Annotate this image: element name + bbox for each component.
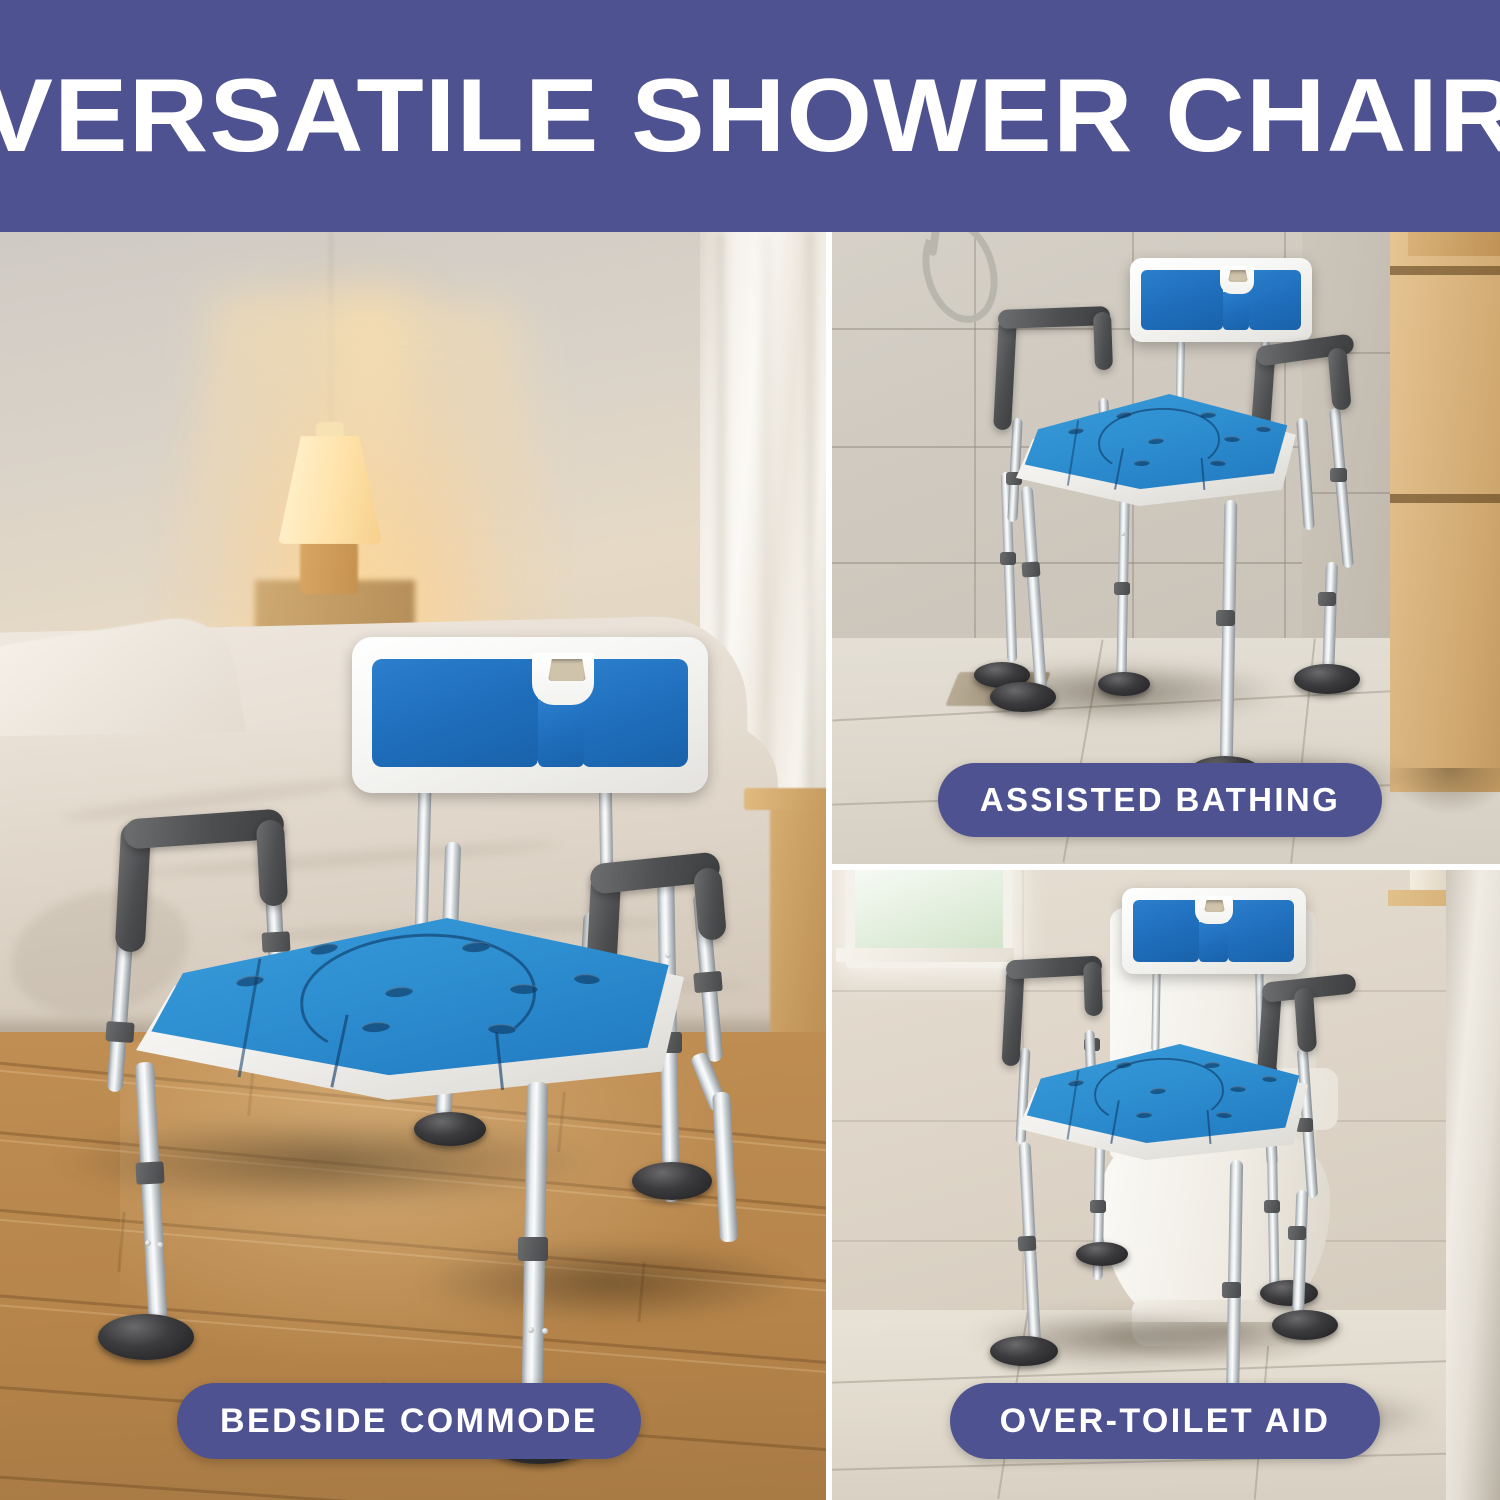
armrest-collar xyxy=(693,971,723,993)
backrest-pad-right xyxy=(1228,900,1294,962)
badge-bedside-commode[interactable]: BEDSIDE COMMODE xyxy=(177,1383,641,1459)
height-adjust-pin xyxy=(145,1240,151,1246)
chair-foot-rear-far xyxy=(1272,1310,1338,1340)
leg-collar xyxy=(1090,1200,1106,1213)
height-adjust-pin xyxy=(665,952,671,958)
backrest-pad-left xyxy=(1141,270,1223,330)
armrest-foam-left-rear xyxy=(256,819,288,906)
armrest-collar xyxy=(261,931,290,952)
seat-drain-slot xyxy=(1230,1086,1246,1092)
badge-label: BEDSIDE COMMODE xyxy=(220,1402,598,1441)
leg-collar xyxy=(1000,552,1016,565)
chair-foot-rear-left xyxy=(1076,1242,1128,1266)
backrest-carry-handle xyxy=(548,659,586,681)
backrest-post-left xyxy=(1151,966,1160,1052)
backrest-shell xyxy=(1122,888,1306,974)
chair-leg-front-left xyxy=(1021,486,1048,696)
height-adjust-pin xyxy=(1121,532,1125,536)
chair-foot-front-left xyxy=(98,1314,194,1360)
armrest-collar xyxy=(1330,468,1347,482)
page-title: VERSATILE SHOWER CHAIR xyxy=(0,64,1500,168)
height-adjust-pin xyxy=(157,1242,163,1248)
chair-leg-rear-right xyxy=(1322,562,1338,680)
chair-shadow xyxy=(420,1242,800,1322)
backrest-pad-left xyxy=(372,659,538,767)
chair-foot-rear-right xyxy=(1294,664,1360,694)
seat-drain-slot xyxy=(510,984,538,994)
height-adjust-pin xyxy=(528,1327,534,1333)
leg-collar xyxy=(1021,561,1040,577)
backrest-pad-right xyxy=(1249,270,1301,330)
armrest-tube-right-front xyxy=(1329,408,1354,568)
armrest-foam-right-rear xyxy=(693,867,727,941)
leg-collar xyxy=(1216,610,1235,626)
backrest-pad-center xyxy=(538,699,584,767)
backrest-pad-left xyxy=(1133,900,1199,962)
panel-assisted-bathing: ASSISTED BATHING xyxy=(832,232,1500,864)
leg-collar xyxy=(135,1161,164,1184)
seat-drain-slot xyxy=(1224,436,1240,442)
chair-foot-rear-right xyxy=(1260,1280,1318,1306)
leg-collar xyxy=(1288,1226,1306,1240)
armrest-tube-left-front xyxy=(106,932,133,1093)
backrest-pad-right xyxy=(582,659,688,767)
armrest-tube-right-rear xyxy=(1296,418,1315,530)
armrest-foam-left-rear xyxy=(1083,962,1103,1017)
armrest-collar xyxy=(105,1021,134,1043)
badge-assisted-bathing[interactable]: ASSISTED BATHING xyxy=(938,763,1382,837)
height-adjust-pin xyxy=(542,1328,548,1334)
chair-foot-rear-left xyxy=(414,1112,486,1146)
leg-collar xyxy=(1264,1200,1280,1213)
header-banner: VERSATILE SHOWER CHAIR xyxy=(0,0,1500,232)
panel-over-toilet-aid: OVER-TOILET AID xyxy=(832,870,1500,1500)
badge-label: ASSISTED BATHING xyxy=(980,781,1340,819)
backrest-pad-center xyxy=(1199,922,1228,962)
chair-foot-rear-left xyxy=(1098,672,1150,696)
armrest-foam-left-rear xyxy=(1093,312,1113,371)
backrest-pad-center xyxy=(1223,292,1249,330)
shower-chair-bedside xyxy=(0,232,826,1500)
chair-leg-front-right xyxy=(1220,500,1238,770)
leg-collar xyxy=(1318,592,1336,606)
badge-label: OVER-TOILET AID xyxy=(1000,1402,1331,1441)
backrest-carry-handle xyxy=(1204,900,1225,912)
backrest-shell xyxy=(352,637,708,793)
chair-leg-rear-far xyxy=(1292,1190,1309,1326)
backrest-shell xyxy=(1130,258,1312,342)
badge-over-toilet-aid[interactable]: OVER-TOILET AID xyxy=(950,1383,1380,1459)
leg-collar xyxy=(1222,1282,1241,1298)
armrest-foam-left-vertical xyxy=(993,318,1017,431)
chair-foot-front-left xyxy=(990,682,1056,712)
leg-collar xyxy=(518,1237,548,1261)
chair-leg-rear-far xyxy=(712,1092,738,1243)
armrest-foam-right-rear xyxy=(1327,347,1351,410)
leg-collar xyxy=(1114,582,1130,595)
leg-collar xyxy=(1018,1236,1037,1252)
panel-bedside-commode: BEDSIDE COMMODE xyxy=(0,232,826,1500)
product-infographic: VERSATILE SHOWER CHAIR xyxy=(0,0,1500,1500)
backrest-carry-handle xyxy=(1228,270,1248,282)
chair-foot-front-left xyxy=(990,1336,1058,1366)
chair-foot-rear-right xyxy=(632,1162,712,1200)
